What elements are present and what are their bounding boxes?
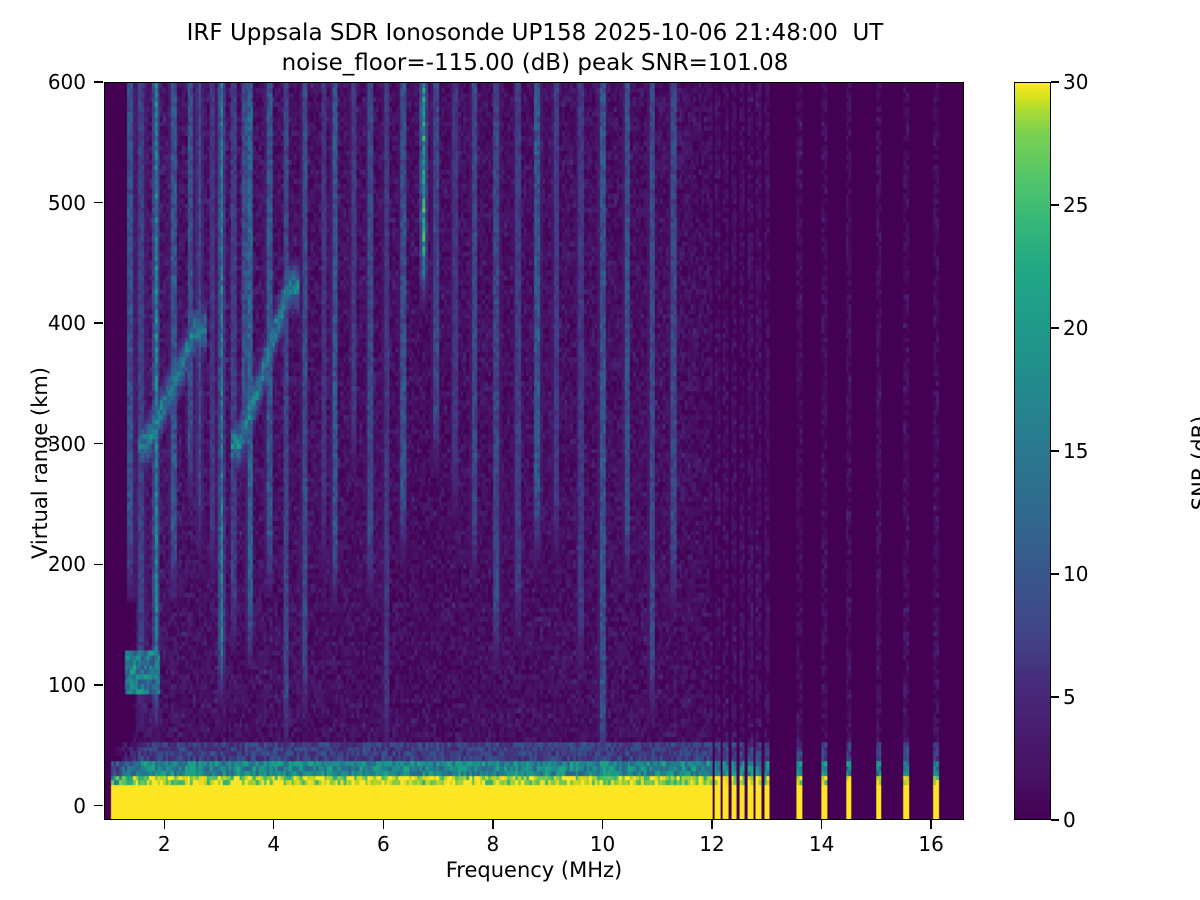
title-line-1: IRF Uppsala SDR Ionosonde UP158 2025-10-… [0,18,1070,48]
y-tick-mark [94,805,103,806]
y-tick-mark [94,81,103,82]
y-tick-mark [94,443,103,444]
x-tick-label: 10 [590,833,615,855]
x-tick-mark [930,820,931,829]
colorbar-tick-label: 30 [1063,72,1088,92]
colorbar-tick-label: 25 [1063,195,1088,215]
y-tick-mark [94,202,103,203]
title-line-2: noise_floor=-115.00 (dB) peak SNR=101.08 [0,48,1070,78]
colorbar-tick-label: 20 [1063,318,1088,338]
y-tick-label: 100 [0,675,86,695]
x-tick-label: 4 [267,833,280,855]
x-tick-label: 2 [158,833,171,855]
x-tick-label: 8 [487,833,500,855]
x-tick-mark [492,820,493,829]
x-tick-mark [273,820,274,829]
colorbar-tick-mark [1051,819,1059,820]
y-tick-mark [94,684,103,685]
y-tick-label: 500 [0,193,86,213]
figure-title: IRF Uppsala SDR Ionosonde UP158 2025-10-… [0,18,1070,78]
x-tick-mark [164,820,165,829]
x-tick-label: 16 [918,833,943,855]
colorbar-tick-mark [1051,450,1059,451]
ionogram-plot-area[interactable] [104,82,964,820]
y-tick-mark [94,322,103,323]
y-tick-label: 400 [0,313,86,333]
x-tick-mark [602,820,603,829]
x-tick-mark [711,820,712,829]
colorbar-tick-mark [1051,696,1059,697]
x-tick-mark [821,820,822,829]
x-tick-label: 6 [377,833,390,855]
colorbar-tick-mark [1051,204,1059,205]
y-tick-mark [94,564,103,565]
y-tick-label: 600 [0,72,86,92]
ionogram-figure: IRF Uppsala SDR Ionosonde UP158 2025-10-… [0,0,1200,900]
colorbar-tick-label: 15 [1063,441,1088,461]
y-tick-label: 0 [0,796,86,816]
colorbar-tick-label: 0 [1063,810,1076,830]
colorbar-tick-label: 10 [1063,564,1088,584]
colorbar-title: SNR (dB) [1188,353,1200,573]
x-tick-label: 14 [809,833,834,855]
colorbar-tick-mark [1051,573,1059,574]
colorbar-tick-mark [1051,327,1059,328]
ionogram-heatmap [105,83,963,819]
x-tick-label: 12 [699,833,724,855]
colorbar-tick-mark [1051,81,1059,82]
x-axis-title: Frequency (MHz) [104,858,964,882]
y-axis-title: Virtual range (km) [28,363,52,563]
colorbar-tick-label: 5 [1063,687,1076,707]
colorbar-gradient [1014,82,1051,820]
x-tick-mark [383,820,384,829]
